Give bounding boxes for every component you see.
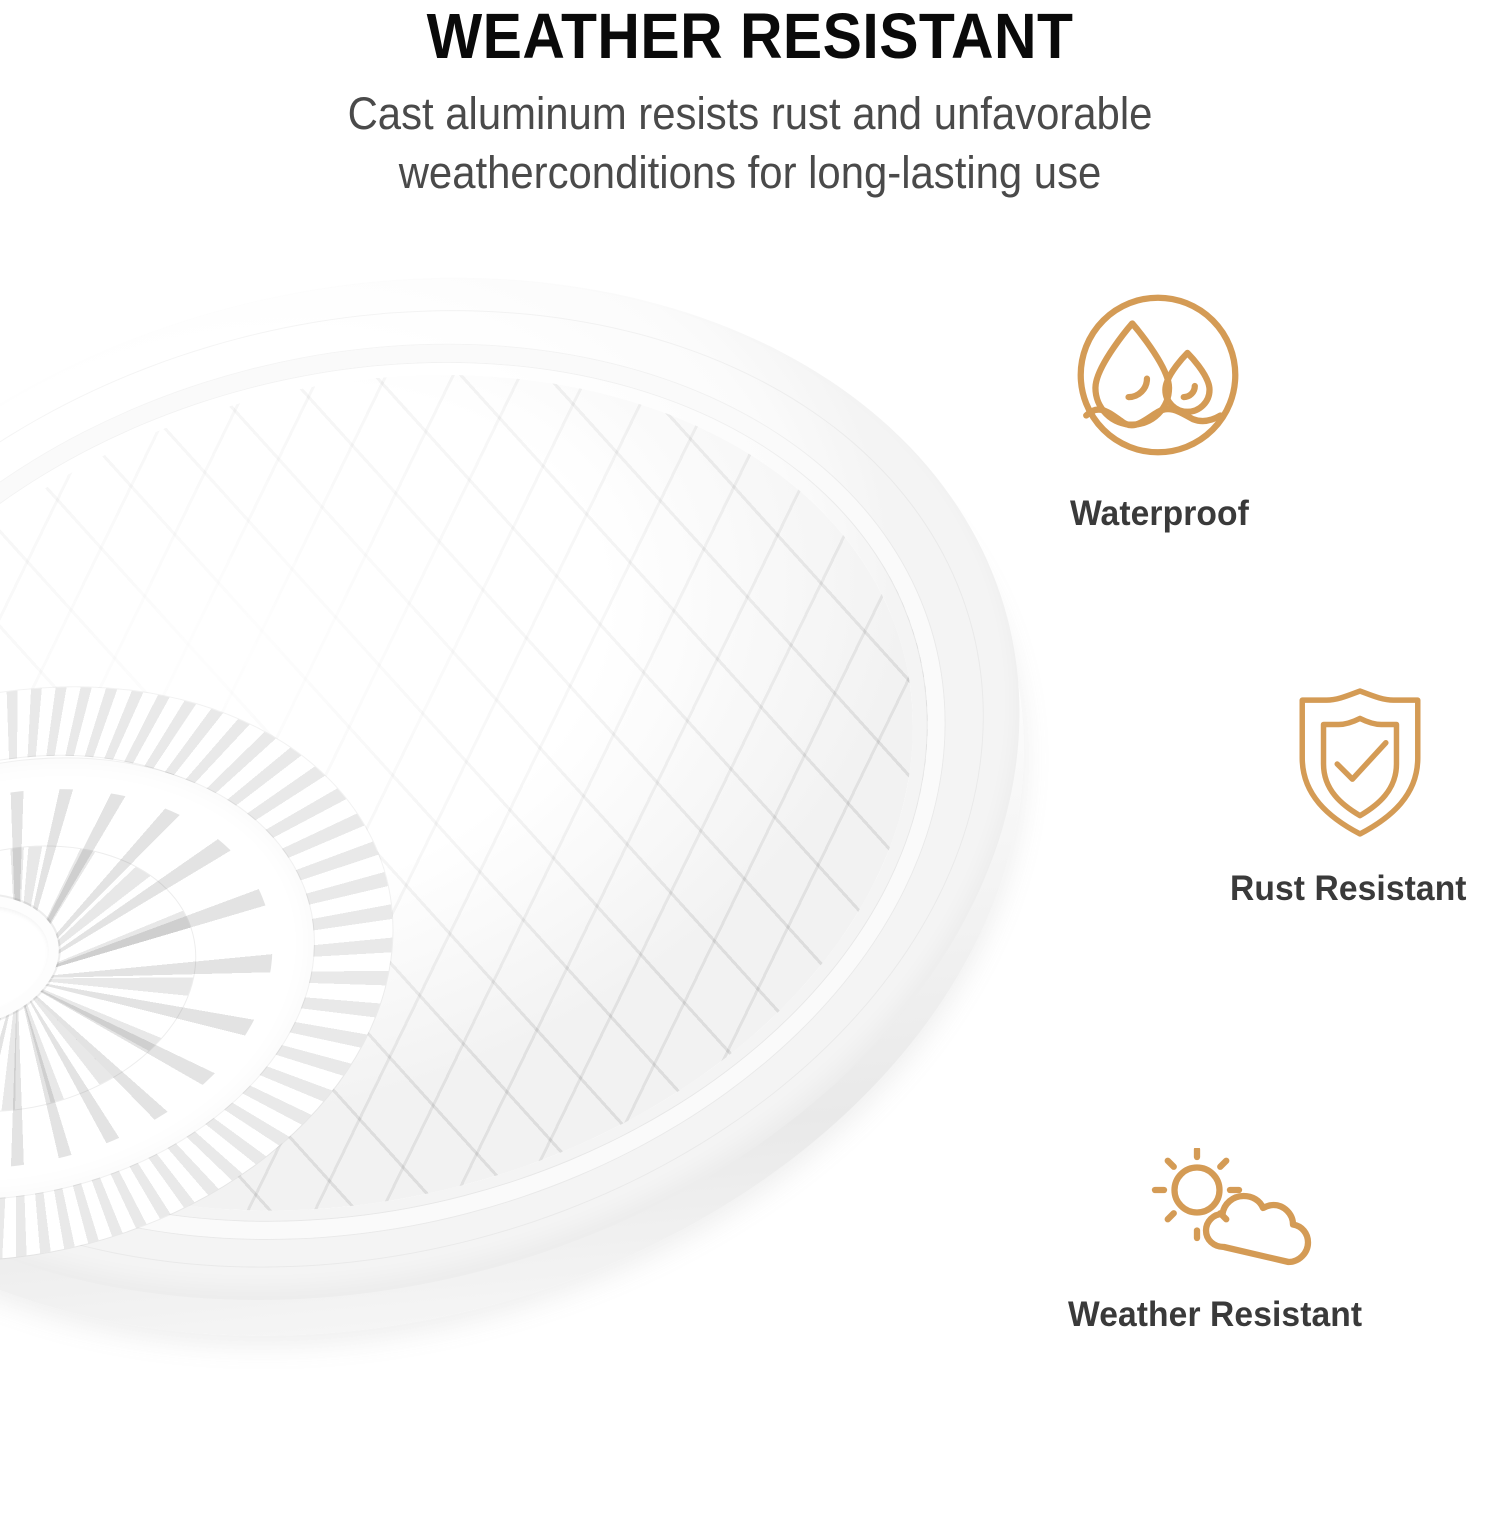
header-block: WEATHER RESISTANT Cast aluminum resists … — [0, 0, 1500, 203]
patio-table-top — [0, 100, 1151, 1530]
sun-cloud-icon — [1146, 1148, 1374, 1273]
water-drop-circle-icon — [1066, 283, 1256, 472]
shield-check-icon — [1290, 688, 1476, 845]
product-image — [0, 225, 1170, 1455]
feature-badge-weather-resistant: Weather Resistant — [1146, 1148, 1374, 1335]
feature-badge-rust-resistant: Rust Resistant — [1290, 688, 1476, 909]
feature-label-waterproof: Waterproof — [1070, 494, 1249, 534]
feature-label-rust-resistant: Rust Resistant — [1230, 869, 1467, 909]
page-subtitle: Cast aluminum resists rust and unfavorab… — [53, 84, 1448, 203]
subtitle-line-1: Cast aluminum resists rust and unfavorab… — [53, 84, 1448, 143]
subtitle-line-2: weatherconditions for long-lasting use — [53, 143, 1448, 202]
feature-badge-waterproof: Waterproof — [1066, 283, 1256, 534]
feature-label-weather-resistant: Weather Resistant — [1068, 1295, 1362, 1335]
page-title: WEATHER RESISTANT — [60, 0, 1440, 68]
